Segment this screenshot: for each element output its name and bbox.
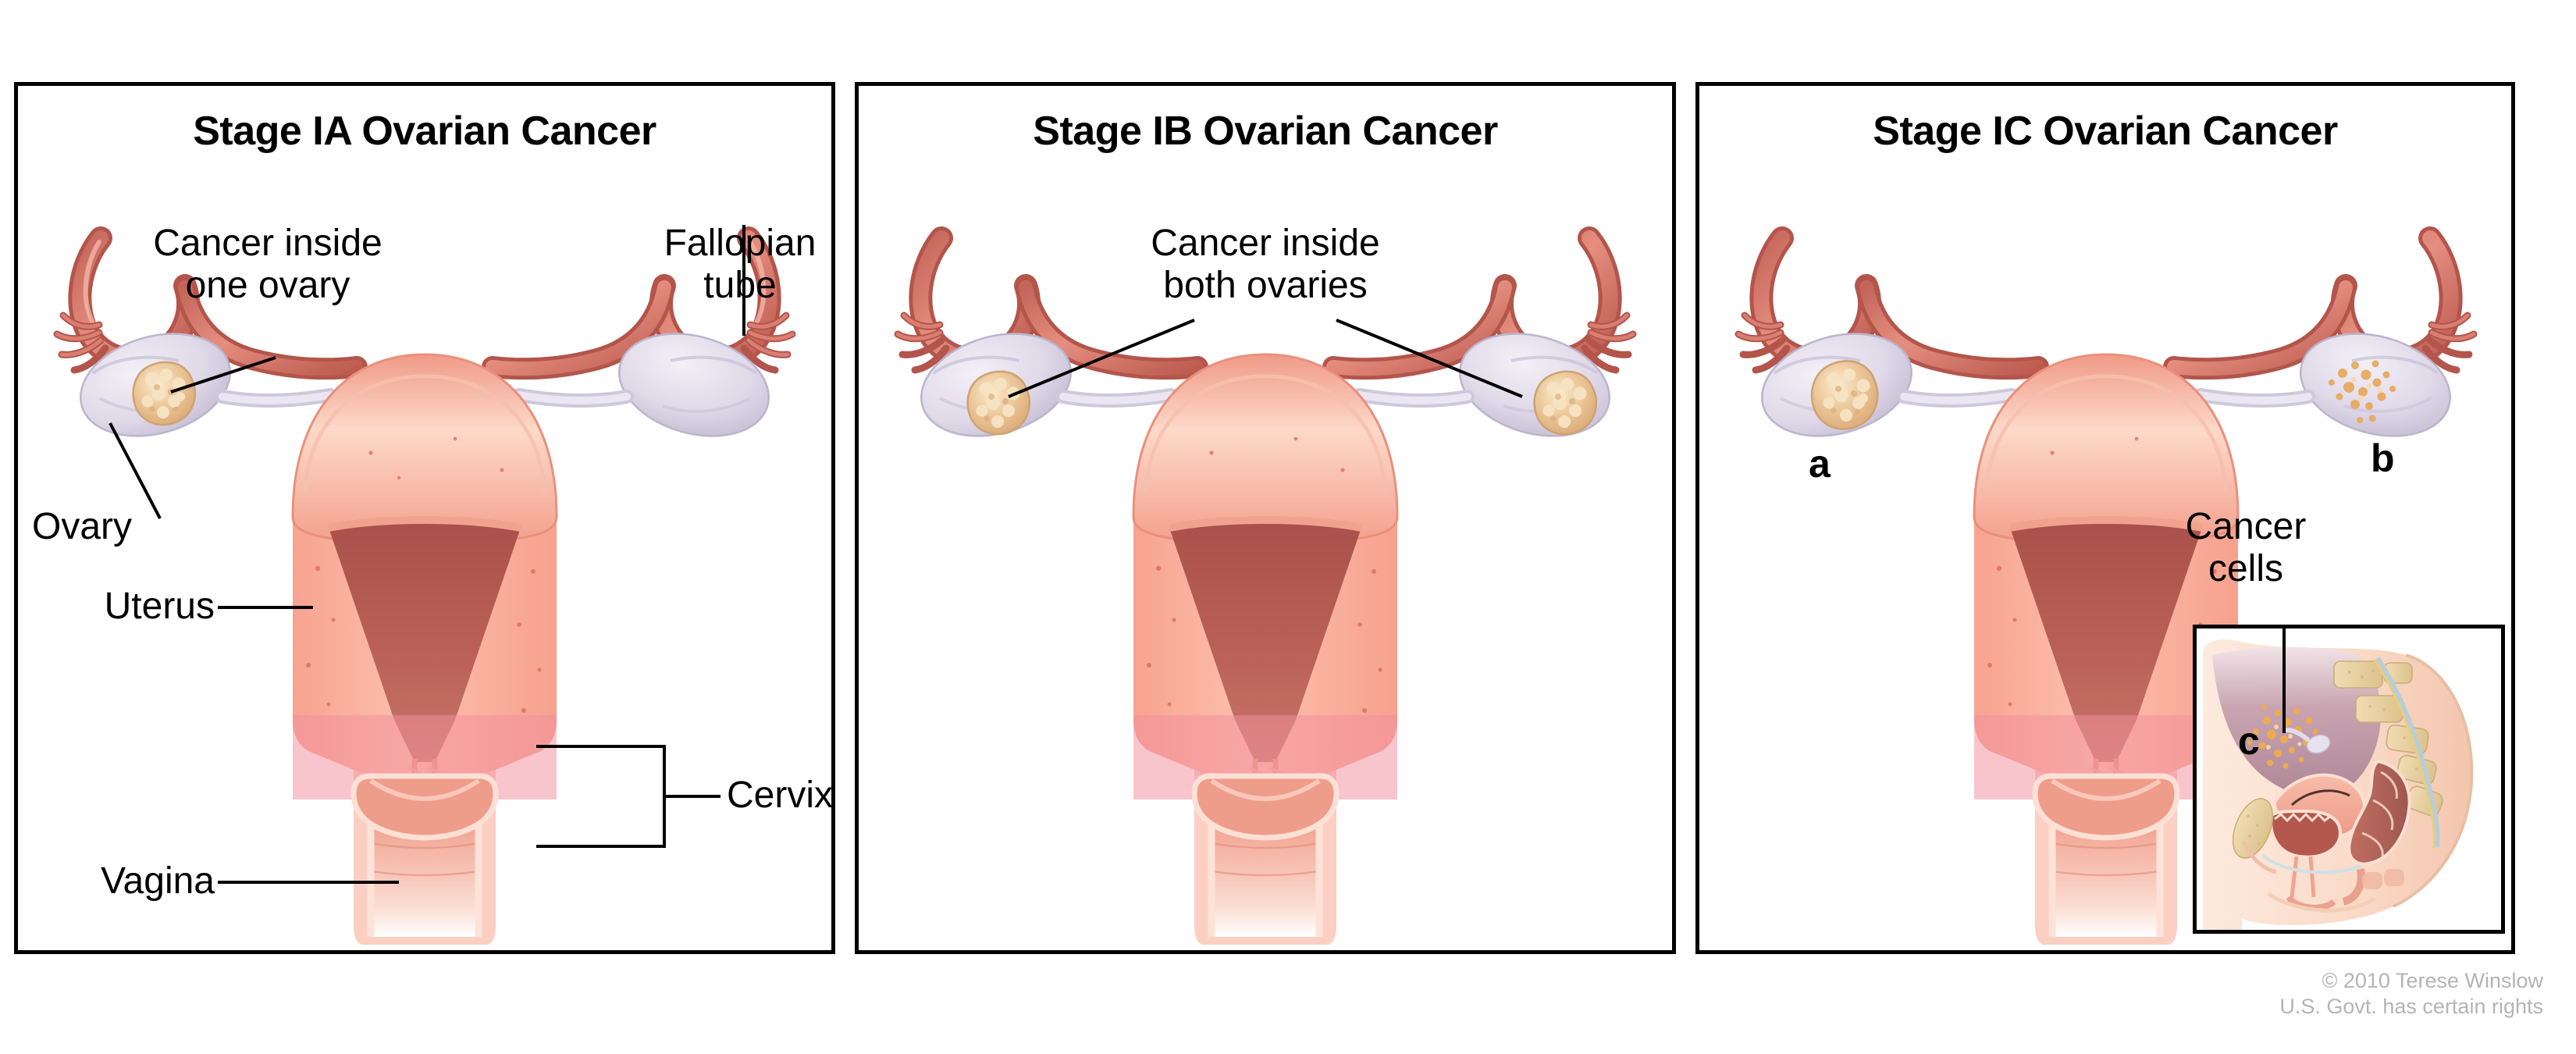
label-fallopian-tube: Fallopian tube (650, 223, 830, 307)
inset-illustration (2197, 628, 2501, 930)
panel-stage-ia: Stage IA Ovarian Cancer (14, 82, 835, 954)
marker-b: b (2371, 436, 2395, 481)
label-vagina: Vagina (18, 860, 215, 903)
copyright-block: © 2010 Terese Winslow U.S. Govt. has cer… (2279, 968, 2543, 1020)
panel-stage-ib: Stage IB Ovarian Cancer (855, 82, 1676, 954)
label-cancer-inside-both-ovaries: Cancer inside both ovaries (1121, 223, 1410, 307)
figure-canvas: Stage IA Ovarian Cancer (0, 0, 2576, 1054)
panel-1-anatomy (18, 86, 831, 953)
label-uterus: Uterus (18, 586, 215, 628)
tumor-left-ovary (968, 372, 1030, 434)
label-cancer-inside-one-ovary: Cancer inside one ovary (135, 223, 400, 307)
panel-2-anatomy (859, 86, 1672, 953)
tumor-left-ovary-a (1812, 361, 1877, 429)
marker-a: a (1809, 441, 1831, 486)
pelvis-sagittal-inset (2193, 625, 2505, 934)
tumor-right-ovary (1535, 372, 1596, 434)
label-ovary: Ovary (32, 506, 132, 548)
copyright-line-1: © 2010 Terese Winslow (2279, 968, 2543, 994)
tumor-left-ovary (133, 362, 195, 425)
marker-c: c (2238, 718, 2260, 764)
panel-stage-ic: Stage IC Ovarian Cancer (1695, 82, 2515, 954)
label-cervix: Cervix (727, 774, 833, 817)
copyright-line-2: U.S. Govt. has certain rights (2279, 994, 2543, 1020)
label-cancer-cells: Cancer cells (2144, 506, 2347, 590)
